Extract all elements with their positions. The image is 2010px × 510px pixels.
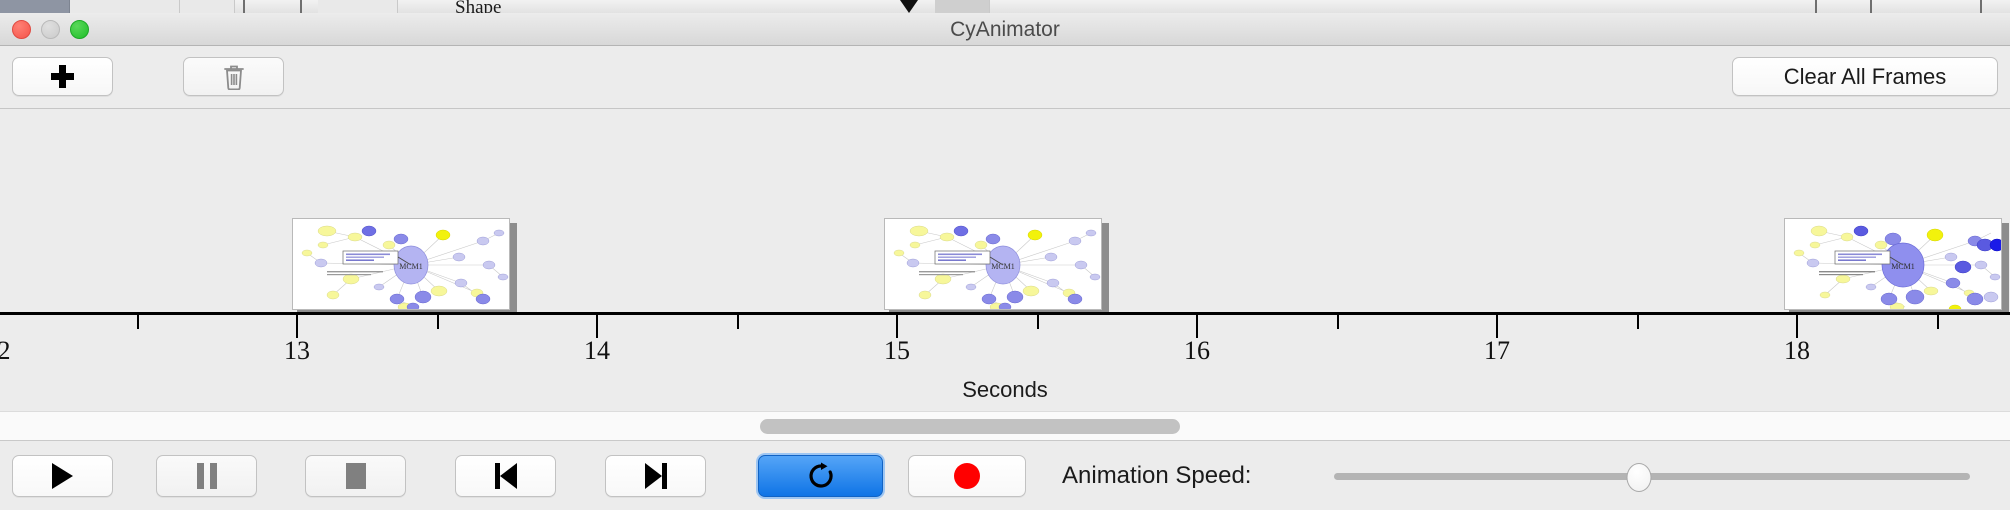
record-circle-icon	[954, 463, 980, 489]
skip-start-icon	[495, 463, 517, 489]
axis-tick-label: 17	[1484, 336, 1510, 366]
axis-major-tick	[596, 315, 598, 338]
axis-tick-label: 18	[1784, 336, 1810, 366]
background-window-strip: Shape	[0, 0, 2010, 13]
frame-thumbnail-3[interactable]: MCM1	[1784, 218, 2008, 314]
delete-frame-button[interactable]	[183, 57, 284, 96]
skip-to-start-button[interactable]	[455, 455, 556, 497]
axis-minor-tick	[1937, 315, 1939, 329]
axis-tick-label: 13	[284, 336, 310, 366]
axis-major-tick	[1496, 315, 1498, 338]
frame-toolbar: Clear All Frames	[0, 46, 2010, 109]
axis-minor-tick	[437, 315, 439, 329]
axis-title: Seconds	[0, 377, 2010, 403]
axis-tick-label: 16	[1184, 336, 1210, 366]
animation-speed-label: Animation Speed:	[1062, 455, 1251, 497]
svg-text:MCM1: MCM1	[1891, 262, 1915, 271]
slider-rail	[1334, 473, 1970, 480]
svg-text:MCM1: MCM1	[399, 262, 423, 271]
axis-minor-tick	[1337, 315, 1339, 329]
axis-minor-tick	[737, 315, 739, 329]
skip-to-end-button[interactable]	[605, 455, 706, 497]
timeline-panel[interactable]: MCM1	[0, 109, 2010, 409]
loop-button[interactable]	[758, 455, 883, 497]
axis-minor-tick	[137, 315, 139, 329]
axis-major-tick	[1796, 315, 1798, 338]
stop-button[interactable]	[305, 455, 406, 497]
frame-thumbnail-1[interactable]: MCM1	[292, 218, 516, 314]
clear-all-frames-button[interactable]: Clear All Frames	[1732, 57, 1998, 96]
title-bar: CyAnimator	[0, 13, 2010, 46]
playback-bar: Animation Speed:	[0, 442, 2010, 510]
slider-thumb[interactable]	[1627, 463, 1652, 492]
trash-icon	[223, 64, 245, 90]
axis-major-tick	[296, 315, 298, 338]
add-frame-button[interactable]	[12, 57, 113, 96]
axis-minor-tick	[1037, 315, 1039, 329]
axis-major-tick	[896, 315, 898, 338]
axis-tick-label: 15	[884, 336, 910, 366]
cyanimator-window: Shape CyAnimator Clear All Frames	[0, 0, 2010, 510]
pause-button[interactable]	[156, 455, 257, 497]
animation-speed-slider[interactable]	[1334, 455, 1970, 497]
window-title: CyAnimator	[0, 13, 2010, 46]
network-graph-late: MCM1	[1785, 219, 2002, 310]
skip-end-icon	[645, 463, 667, 489]
network-graph-early: MCM1	[293, 219, 510, 310]
play-icon	[52, 463, 73, 489]
axis-minor-tick	[1637, 315, 1639, 329]
axis-tick-label: 2	[0, 336, 11, 366]
frame-thumbnail-2[interactable]: MCM1	[884, 218, 1108, 314]
svg-text:MCM1: MCM1	[991, 262, 1015, 271]
play-button[interactable]	[12, 455, 113, 497]
network-graph-mid: MCM1	[885, 219, 1102, 310]
horizontal-scrollbar-thumb[interactable]	[760, 419, 1180, 434]
background-window-label: Shape	[455, 0, 501, 13]
stop-icon	[346, 463, 366, 489]
plus-icon	[51, 65, 74, 88]
axis-tick-label: 14	[584, 336, 610, 366]
pause-icon	[197, 463, 217, 489]
axis-major-tick	[1196, 315, 1198, 338]
record-button[interactable]	[908, 455, 1026, 497]
loop-icon	[806, 461, 836, 491]
timeline-axis	[0, 312, 2010, 315]
horizontal-scrollbar-track[interactable]	[0, 411, 2010, 441]
